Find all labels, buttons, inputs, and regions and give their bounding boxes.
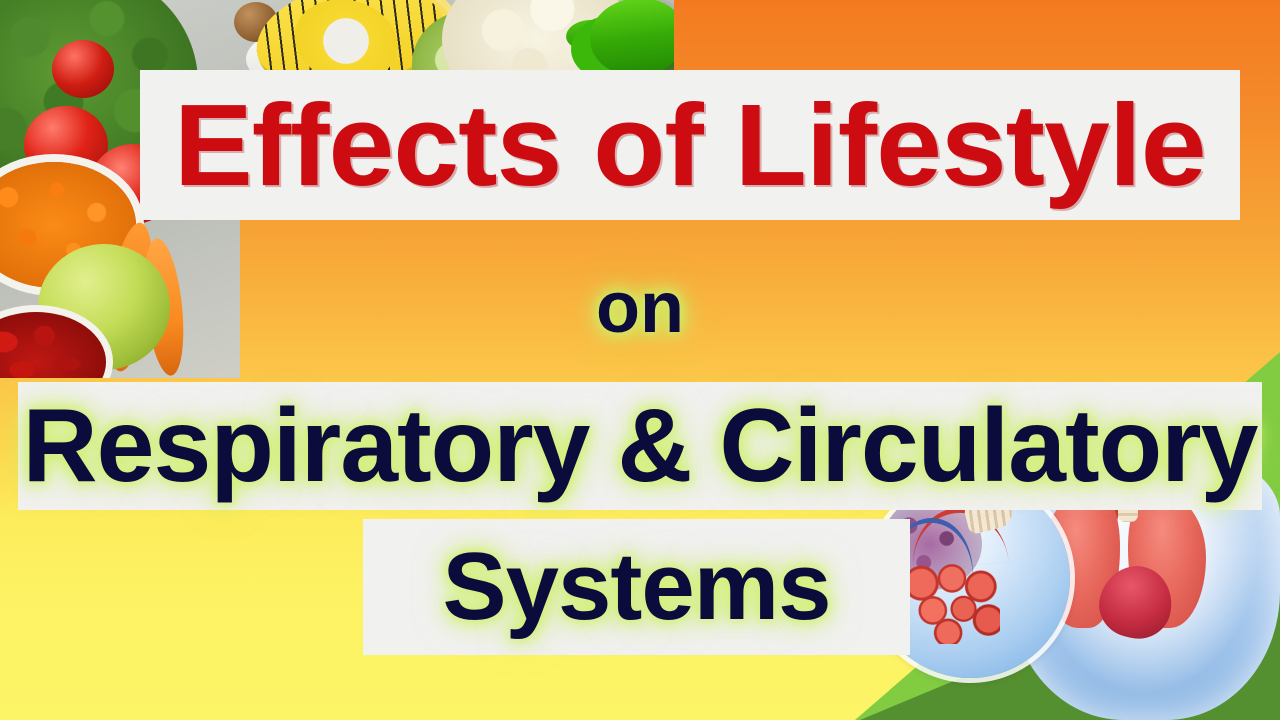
presentation-slide: 0 [0,0,1280,720]
subject-line-banner: Respiratory & Circulatory [18,382,1262,510]
alveoli-sacs-icon [904,564,1000,644]
cherry-tomato-icon [52,40,114,98]
headline-text: Effects of Lifestyle [174,87,1206,203]
subject-line-text: Respiratory & Circulatory [23,394,1258,498]
headline-banner: Effects of Lifestyle [140,70,1240,220]
connector-text: on [0,272,1280,344]
subject-line2-text: Systems [443,539,831,635]
subject-line2-banner: Systems [363,519,910,655]
